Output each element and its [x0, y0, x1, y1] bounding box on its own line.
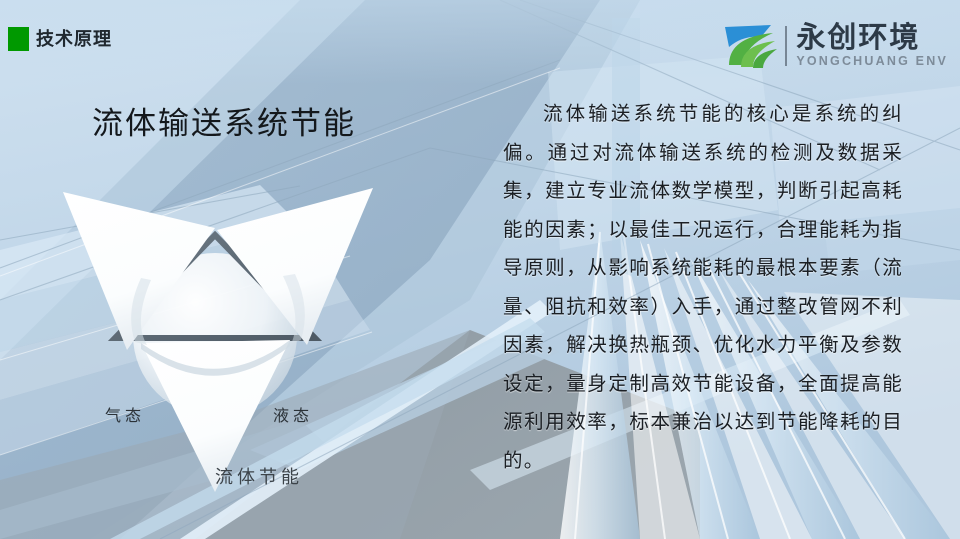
header-marker-icon [8, 27, 29, 51]
diagram-center-label: 流体节能 [215, 463, 303, 489]
body-paragraph: 流体输送系统节能的核心是系统的纠偏。通过对流体输送系统的检测及数据采集，建立专业… [503, 95, 903, 480]
presentation-slide: 技术原理 永创环境 YONGCHUANG ENV 流体输送系统节能 [0, 0, 960, 539]
triangle-diagram-graphic-icon [55, 180, 425, 500]
logo-divider [785, 26, 787, 66]
fluid-states-triangle-diagram: 气态 液态 流体节能 气 液 混 合 [55, 180, 425, 500]
logo-wordmark: 永创环境 YONGCHUANG ENV [796, 23, 948, 69]
page-title: 技术原理 [36, 27, 112, 51]
diagram-label-liquid: 液态 [273, 402, 313, 426]
diagram-label-gas: 气态 [105, 402, 145, 426]
slide-title: 流体输送系统节能 [92, 103, 356, 145]
company-logo: 永创环境 YONGCHUANG ENV [721, 20, 948, 72]
yongchuang-swoosh-logo-icon [721, 21, 781, 71]
logo-chinese-name: 永创环境 [796, 23, 948, 53]
logo-english-name: YONGCHUANG ENV [796, 54, 948, 69]
